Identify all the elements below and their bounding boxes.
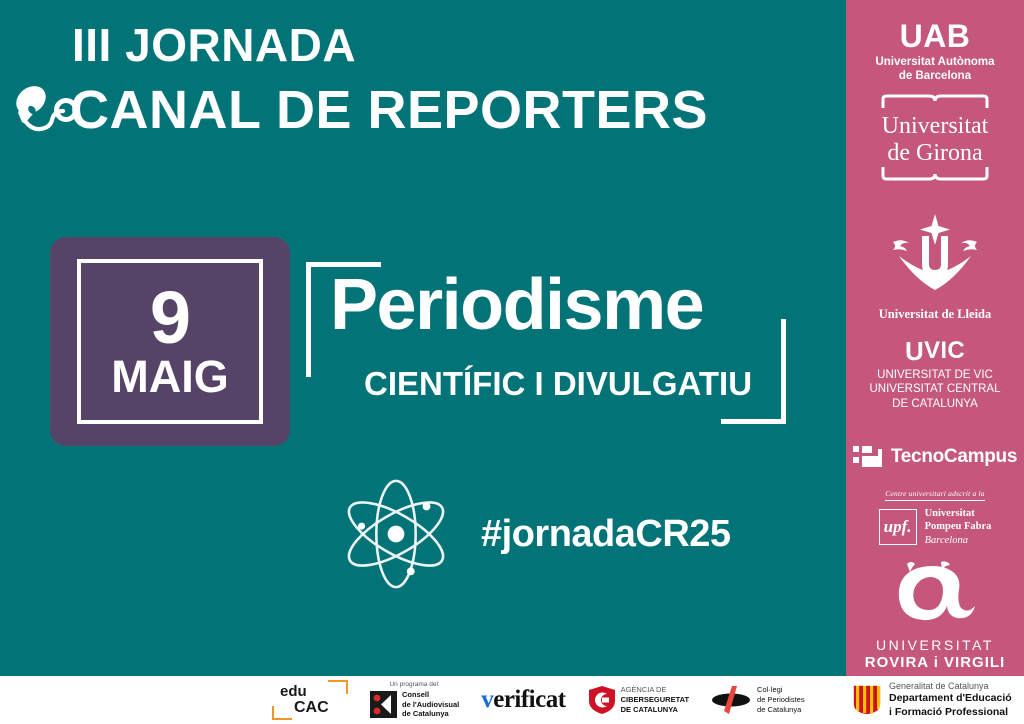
logo-verificat: verificat: [481, 686, 565, 714]
upf-name: Universitat Pompeu Fabra Barcelona: [925, 507, 992, 547]
uvic-name-line3: DE CATALUNYA: [846, 397, 1024, 411]
logo-generalitat: Generalitat de Catalunya Departament d'E…: [852, 676, 1012, 724]
date-month: MAIG: [111, 354, 229, 399]
verificat-rest: erificat: [493, 686, 565, 713]
urv-a-icon: [885, 556, 985, 628]
uab-name-line1: Universitat Autònoma: [846, 55, 1024, 69]
event-edition-title: III JORNADA: [0, 22, 846, 68]
ciberseguretat-name-line2: CIBERSEGURETAT: [621, 695, 689, 705]
uvic-name-line1: UNIVERSITAT DE VIC: [846, 368, 1024, 382]
tecnocampus-name: TecnoCampus: [891, 446, 1017, 468]
educac-cac: CAC: [294, 700, 329, 716]
logo-uab: UAB Universitat Autònoma de Barcelona: [846, 20, 1024, 84]
event-name-title: CANAL DE REPORTERS: [70, 83, 708, 137]
udg-name-line1: Universitat: [846, 113, 1024, 140]
urv-name-line2: ROVIRA i VIRGILI: [846, 654, 1024, 672]
uvic-acronym-u: U: [905, 338, 924, 364]
udg-bracket-top-icon: [881, 94, 989, 108]
topic-title: Periodisme: [330, 268, 703, 344]
logo-cac: Un programa del: Consell de l'Audiovisua…: [370, 681, 459, 719]
shield-c-icon: [588, 685, 616, 715]
cac-caption: Un programa del:: [389, 681, 439, 688]
educac-bracket-top-right: [328, 680, 348, 694]
event-poster: III JORNADA CANAL DE REPORTERS 9 MAIG Pe…: [0, 0, 1024, 724]
educac-edu: edu: [280, 684, 329, 699]
upf-name-line2: Pompeu Fabra: [925, 520, 992, 533]
event-topic-block: Periodisme CIENTÍFIC I DIVULGATIU: [306, 262, 786, 424]
ciberseguretat-name-line1: AGÈNCIA DE: [621, 685, 689, 695]
periodistes-pen-icon: [711, 685, 751, 715]
verificat-v: v: [481, 686, 493, 713]
cac-name-line2: de l'Audiovisual: [402, 700, 459, 710]
catalan-flag-shield-icon: [852, 684, 882, 716]
event-hashtag: #jornadaCR25: [481, 513, 731, 556]
upf-mark: upf.: [879, 509, 917, 545]
uvic-name-line2: UNIVERSITAT CENTRAL: [846, 382, 1024, 396]
footer-sponsor-bar: edu CAC Un programa del: Consell: [0, 676, 1024, 724]
generalitat-line1: Generalitat de Catalunya: [889, 681, 1012, 693]
udg-name: Universitat de Girona: [846, 113, 1024, 167]
logo-uvic: UVIC UNIVERSITAT DE VIC UNIVERSITAT CENT…: [846, 338, 1024, 411]
educac-wordmark: edu CAC: [280, 684, 329, 716]
logo-ciberseguretat: AGÈNCIA DE CIBERSEGURETAT DE CATALUNYA: [588, 685, 689, 715]
generalitat-name: Generalitat de Catalunya Departament d'E…: [889, 681, 1012, 720]
upf-name-line3: Barcelona: [925, 534, 992, 547]
logo-educac: edu CAC: [272, 680, 348, 720]
uab-acronym: UAB: [846, 20, 1024, 52]
udg-name-line2: de Girona: [846, 140, 1024, 167]
udg-bracket-bottom-icon: [881, 167, 989, 181]
cac-name-line3: de Catalunya: [402, 709, 459, 719]
logo-upf: Centre universitari adscrit a la upf. Un…: [846, 483, 1024, 547]
event-date-badge: 9 MAIG: [50, 237, 290, 446]
udl-name: Universitat de Lleida: [846, 308, 1024, 322]
uvic-acronym-vic: VIC: [924, 339, 965, 363]
uab-name: Universitat Autònoma de Barcelona: [846, 55, 1024, 84]
periodistes-name: Col·legi de Periodistes de Catalunya: [757, 685, 805, 715]
topic-subtitle: CIENTÍFIC I DIVULGATIU: [364, 366, 752, 402]
periodistes-name-line2: de Periodistes: [757, 695, 805, 705]
periodistes-name-line1: Col·legi: [757, 685, 805, 695]
upf-name-line1: Universitat: [925, 507, 992, 520]
generalitat-line2: Departament d'Educació: [889, 692, 1012, 706]
date-inner-frame: 9 MAIG: [77, 259, 263, 424]
cac-name: Consell de l'Audiovisual de Catalunya: [402, 690, 459, 719]
tecnocampus-mark-icon: [853, 445, 883, 469]
lleida-crest-icon: [883, 212, 987, 298]
cac-name-line1: Consell: [402, 690, 459, 700]
logo-periodistes: Col·legi de Periodistes de Catalunya: [711, 685, 805, 715]
atom-icon: [337, 475, 455, 593]
poster-header: III JORNADA CANAL DE REPORTERS: [0, 22, 846, 142]
hashtag-block: #jornadaCR25: [337, 474, 767, 594]
footer-partner-logos: edu CAC Un programa del: Consell: [272, 676, 805, 724]
periodistes-name-line3: de Catalunya: [757, 705, 805, 715]
microphone-icon: [6, 78, 78, 142]
urv-name-line1: UNIVERSITAT: [846, 637, 1024, 654]
verificat-wordmark: verificat: [481, 686, 565, 714]
cac-mark-icon: [370, 691, 397, 718]
logo-udg: Universitat de Girona: [846, 94, 1024, 186]
ciberseguretat-name: AGÈNCIA DE CIBERSEGURETAT DE CATALUNYA: [621, 685, 689, 715]
uab-name-line2: de Barcelona: [846, 69, 1024, 83]
generalitat-line3: i Formació Professional: [889, 706, 1012, 720]
date-day: 9: [150, 284, 190, 352]
upf-caption: Centre universitari adscrit a la: [885, 489, 984, 501]
logo-udl: Universitat de Lleida: [846, 212, 1024, 322]
logo-urv: UNIVERSITAT ROVIRA i VIRGILI: [846, 556, 1024, 672]
ciberseguretat-name-line3: DE CATALUNYA: [621, 705, 689, 715]
uvic-acronym: UVIC: [846, 338, 1024, 364]
logo-tecnocampus: TecnoCampus: [846, 445, 1024, 469]
uvic-name: UNIVERSITAT DE VIC UNIVERSITAT CENTRAL D…: [846, 368, 1024, 411]
sponsor-university-sidebar: UAB Universitat Autònoma de Barcelona Un…: [846, 0, 1024, 676]
